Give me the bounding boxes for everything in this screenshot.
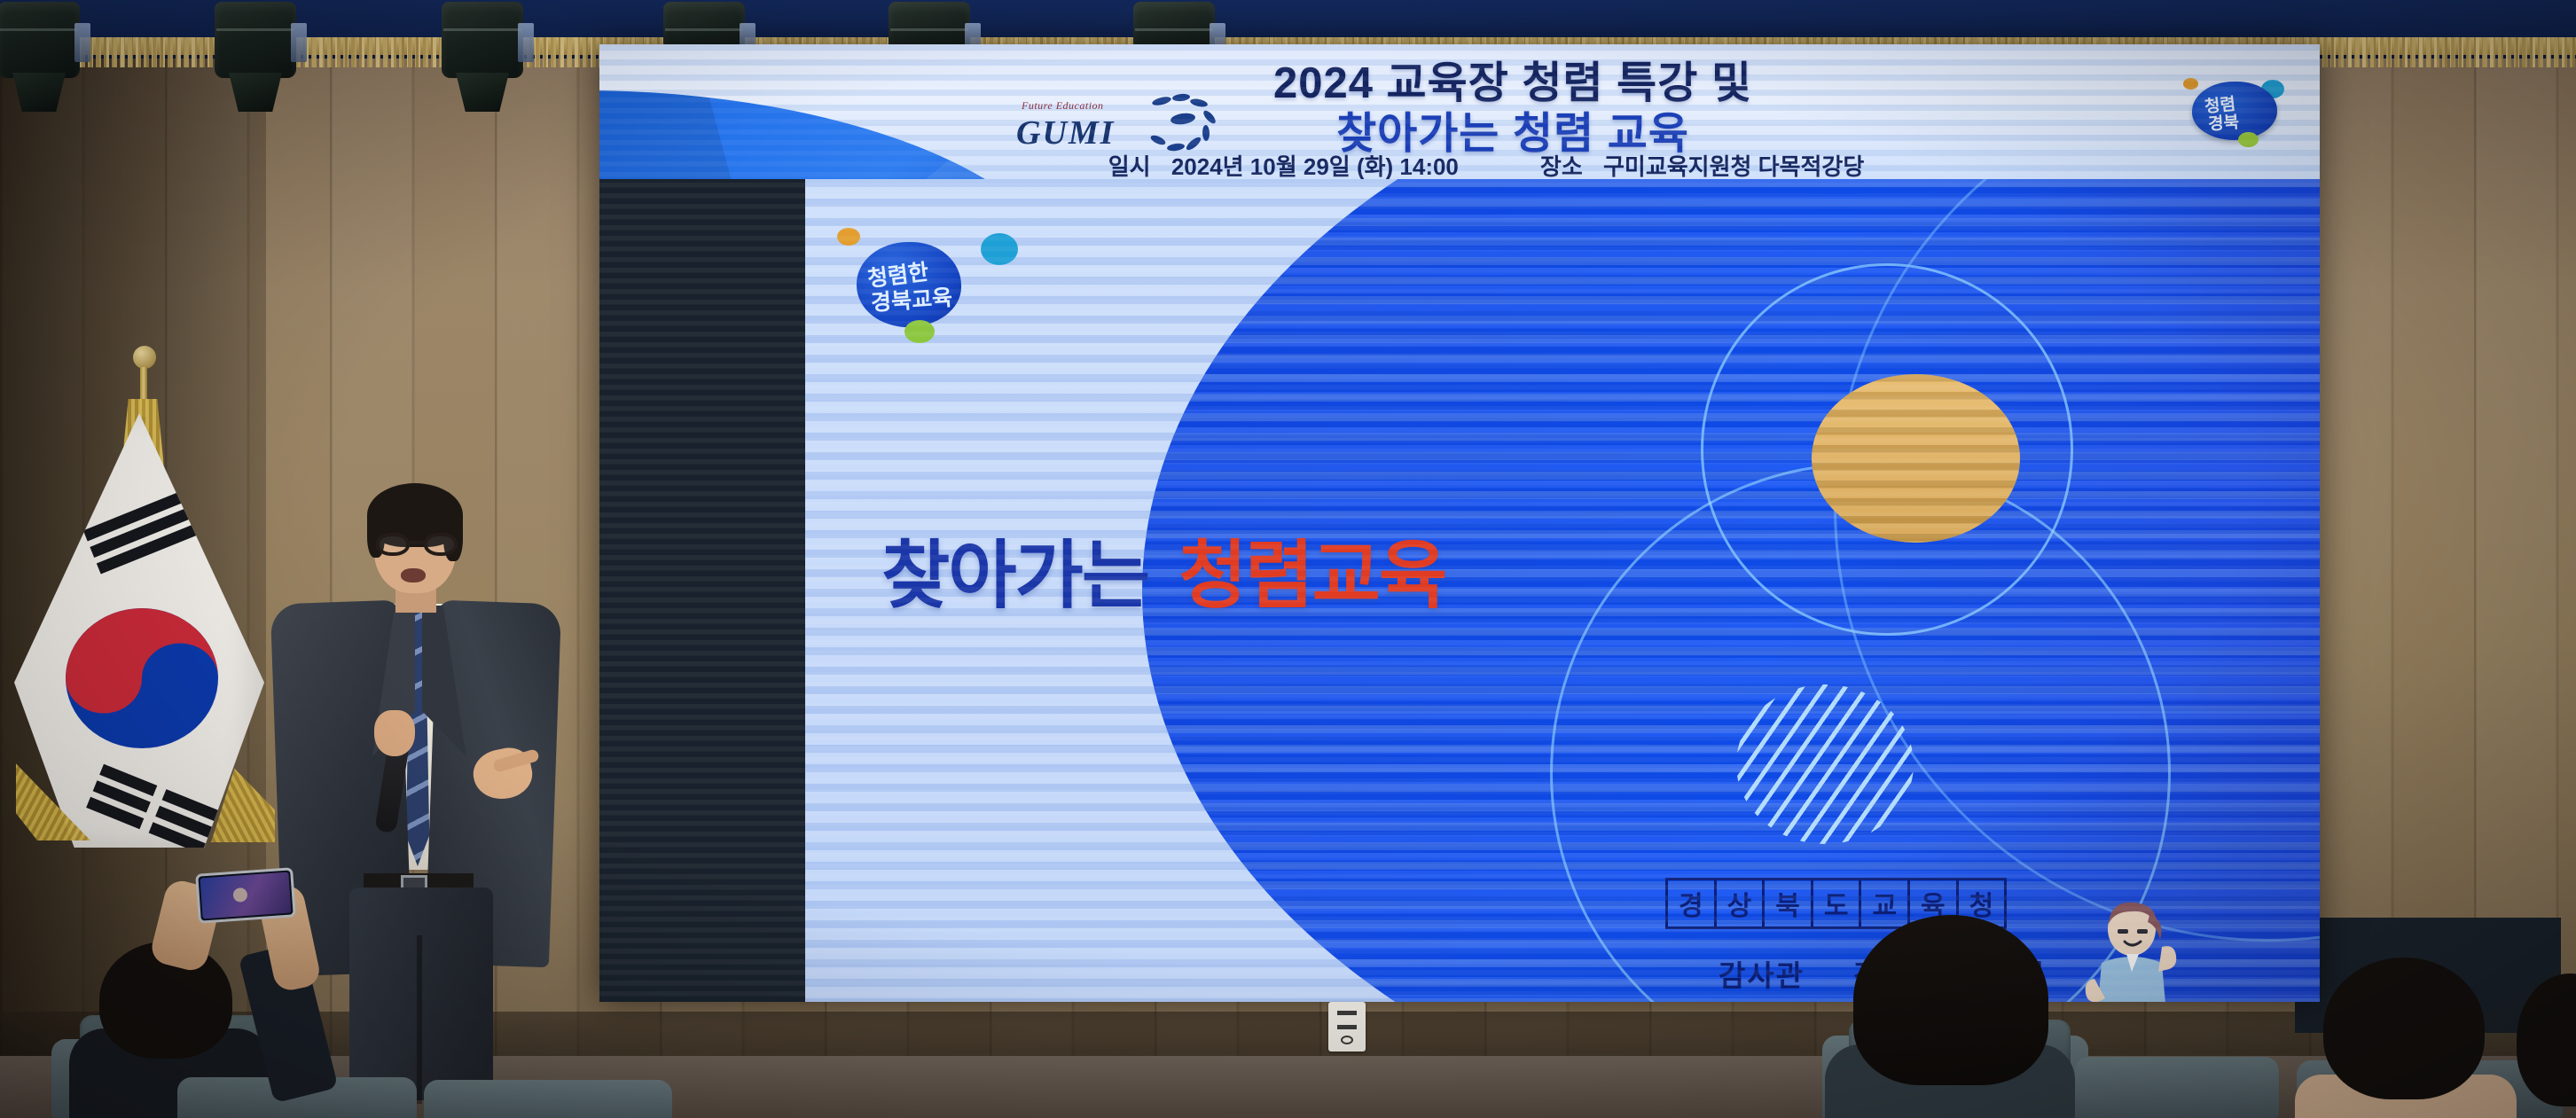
stage-spotlight [0, 0, 85, 108]
badge-dot-orange [2183, 78, 2198, 90]
slide-headline: 찾아가는청렴교육 [881, 516, 1445, 623]
led-dark-panel-left [599, 179, 805, 1002]
flag-finial [133, 346, 156, 369]
hatched-circle-decoration [1736, 684, 1914, 844]
stage-spotlight [209, 0, 301, 108]
auditorium-scene: Future Education GUMI [0, 0, 2576, 1118]
banner-title: 2024 교육장 청렴 특강 및 찾아가는 청렴 교육 [865, 59, 2160, 160]
badge-dot-green [2238, 132, 2259, 147]
banner-title-line1: 2024 교육장 청렴 특강 및 [865, 59, 2160, 109]
presenter-mouth [401, 568, 426, 582]
auditorium-chair[interactable] [424, 1080, 672, 1118]
banner-place-value: 구미교육지원청 다목적강당 [1603, 153, 1864, 179]
banner-subline: 일시 2024년 10월 29일 (화) 14:00 장소 구미교육지원청 다목… [812, 149, 2160, 179]
banner-place-label: 장소 [1540, 153, 1583, 179]
event-banner: Future Education GUMI [599, 44, 2320, 179]
thumbs-up-mascot-icon [2080, 899, 2187, 1002]
badge-text-line2: 경북 [2207, 109, 2240, 135]
org-char: 도 [1811, 880, 1860, 926]
org-char: 교 [1859, 880, 1907, 926]
logo-dot-cyan [981, 233, 1018, 265]
led-video-wall[interactable]: Future Education GUMI [599, 44, 2320, 1002]
auditorium-chair[interactable] [2075, 1057, 2279, 1118]
headline-blue-text: 찾아가는 [881, 534, 1148, 617]
logo-dot-green [904, 320, 935, 343]
taeguk-symbol [66, 608, 218, 748]
banner-date-group: 일시 2024년 10월 29일 (화) 14:00 [1108, 149, 1459, 179]
taeguk-red-half [66, 608, 218, 748]
audience-head [1853, 915, 2048, 1085]
org-char: 상 [1714, 880, 1763, 926]
trigram-geon [83, 484, 218, 580]
org-char: 경 [1665, 880, 1714, 926]
integrity-gyeongbuk-logo: 청렴한 경북교육 [841, 228, 983, 336]
gold-circle-decoration [1812, 374, 2020, 543]
banner-date-value: 2024년 10월 29일 (화) 14:00 [1171, 153, 1459, 179]
flag-cloth [14, 413, 264, 848]
banner-date-label: 일시 [1108, 153, 1151, 179]
smartphone-camera[interactable] [195, 867, 296, 924]
stage-spotlight [436, 0, 529, 108]
presentation-slide[interactable]: 청렴한 경북교육 찾아가는청렴교육 경 상 북 도 교 육 청 감사관 감사 권… [805, 179, 2320, 1002]
logo-dot-orange [837, 228, 860, 246]
presenter-glasses [376, 533, 458, 556]
logo-text-line2: 경북교육 [870, 280, 953, 317]
trigram-gon [86, 764, 219, 855]
presenter-leg-seam [417, 935, 422, 1104]
wall-outlet [1328, 1002, 1366, 1052]
presenter-role: 감사관 [1719, 959, 1805, 992]
banner-place-group: 장소 구미교육지원청 다목적강당 [1540, 149, 1864, 179]
org-char: 북 [1762, 880, 1811, 926]
audience-head [2323, 958, 2485, 1099]
headline-red-text: 청렴교육 [1178, 534, 1445, 617]
korean-flag [11, 346, 268, 913]
presenter-person [282, 457, 566, 1077]
presenter-hand-holding-mic [374, 710, 415, 756]
integrity-badge-logo: 청렴 경북 [2185, 73, 2284, 145]
